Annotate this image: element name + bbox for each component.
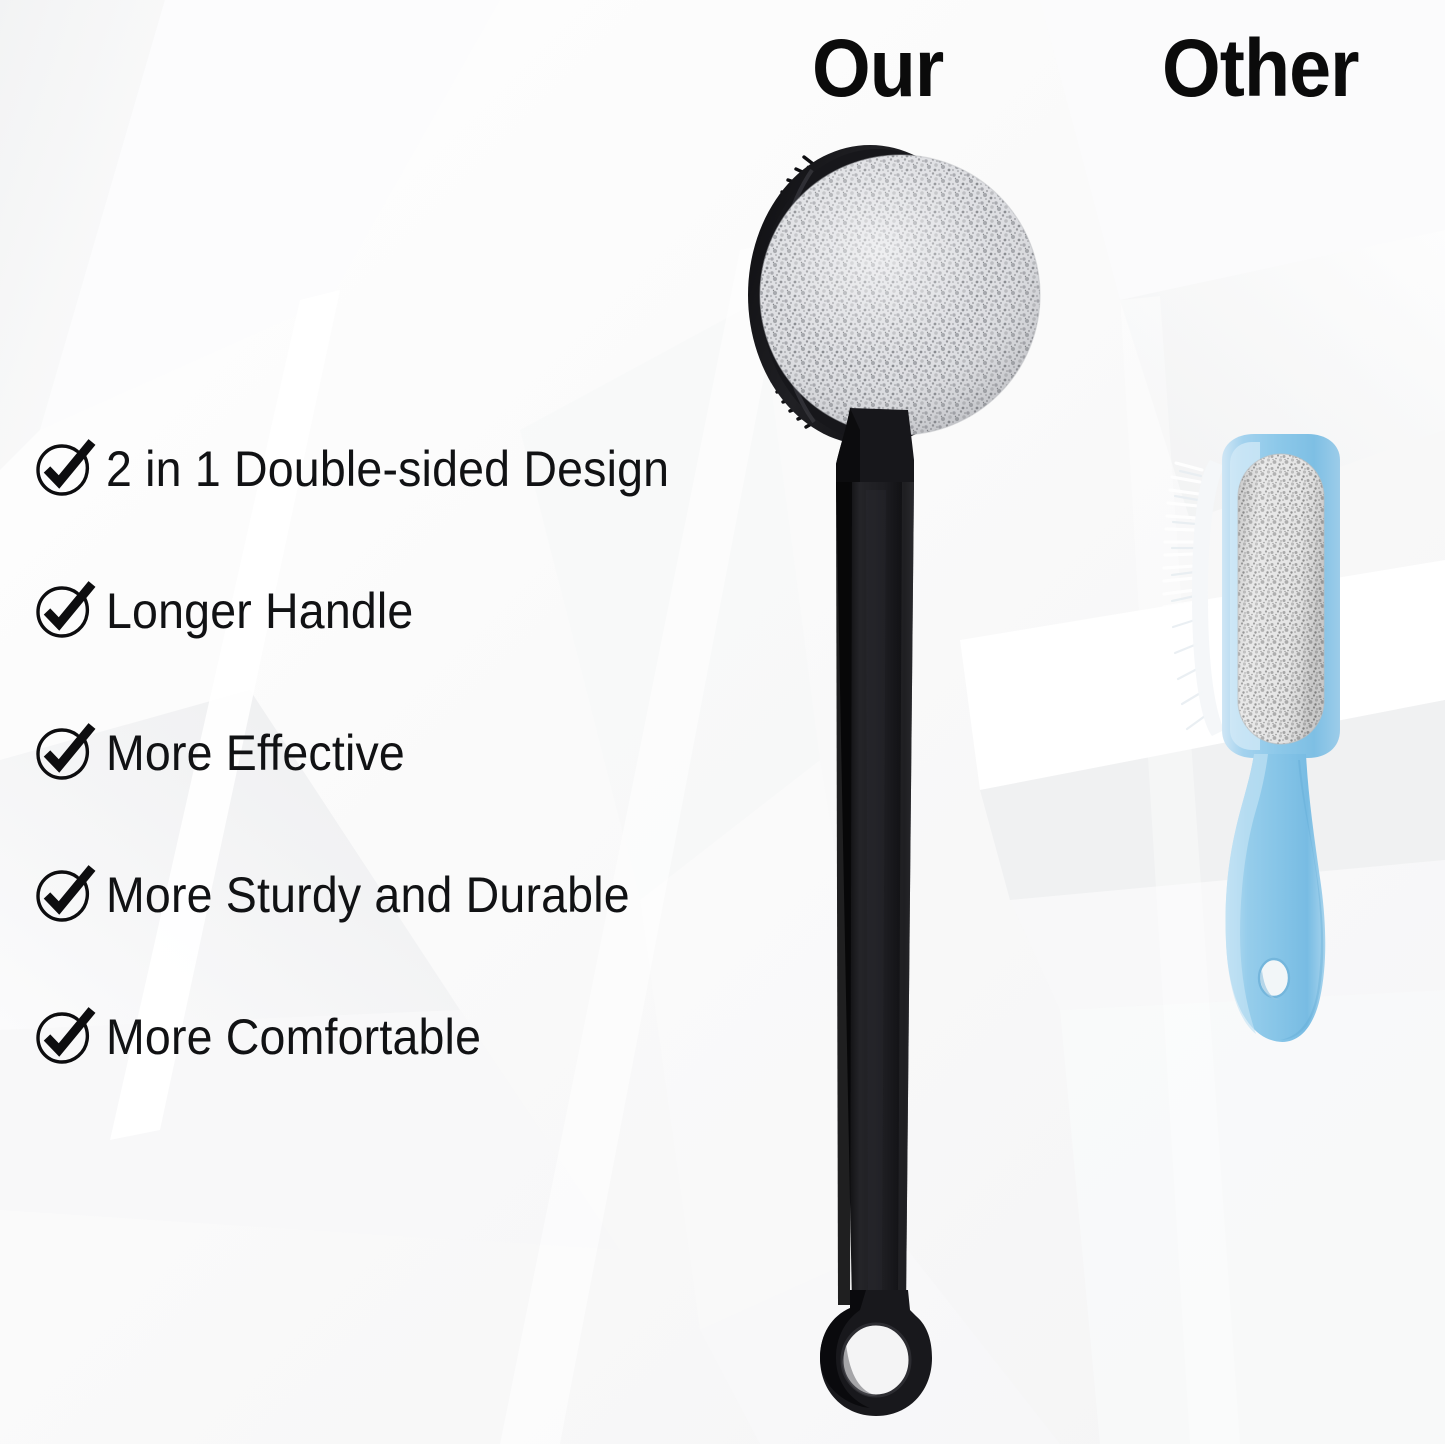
- feature-item: Longer Handle: [30, 579, 830, 643]
- feature-item: More Sturdy and Durable: [30, 863, 830, 927]
- feature-label: More Effective: [106, 728, 405, 778]
- feature-item: More Effective: [30, 721, 830, 785]
- pumice-stone: [1238, 454, 1324, 744]
- check-circle-icon: [30, 436, 96, 502]
- feature-label: More Sturdy and Durable: [106, 870, 630, 920]
- column-heading-our: Our: [812, 28, 943, 110]
- feature-label: Longer Handle: [106, 586, 413, 636]
- feature-list: 2 in 1 Double-sided Design Longer Handle…: [30, 437, 830, 1069]
- product-comparison-image: Our Other 2 in 1 Double-sided Design Lon…: [0, 0, 1445, 1444]
- feature-label: More Comfortable: [106, 1012, 481, 1062]
- other-product-image: [1150, 430, 1380, 1070]
- column-heading-other: Other: [1162, 28, 1359, 110]
- check-circle-icon: [30, 1004, 96, 1070]
- pumice-stone: [760, 155, 1040, 435]
- feature-item: More Comfortable: [30, 1005, 830, 1069]
- check-circle-icon: [30, 720, 96, 786]
- check-circle-icon: [30, 862, 96, 928]
- feature-item: 2 in 1 Double-sided Design: [30, 437, 830, 501]
- check-circle-icon: [30, 578, 96, 644]
- feature-label: 2 in 1 Double-sided Design: [106, 444, 669, 494]
